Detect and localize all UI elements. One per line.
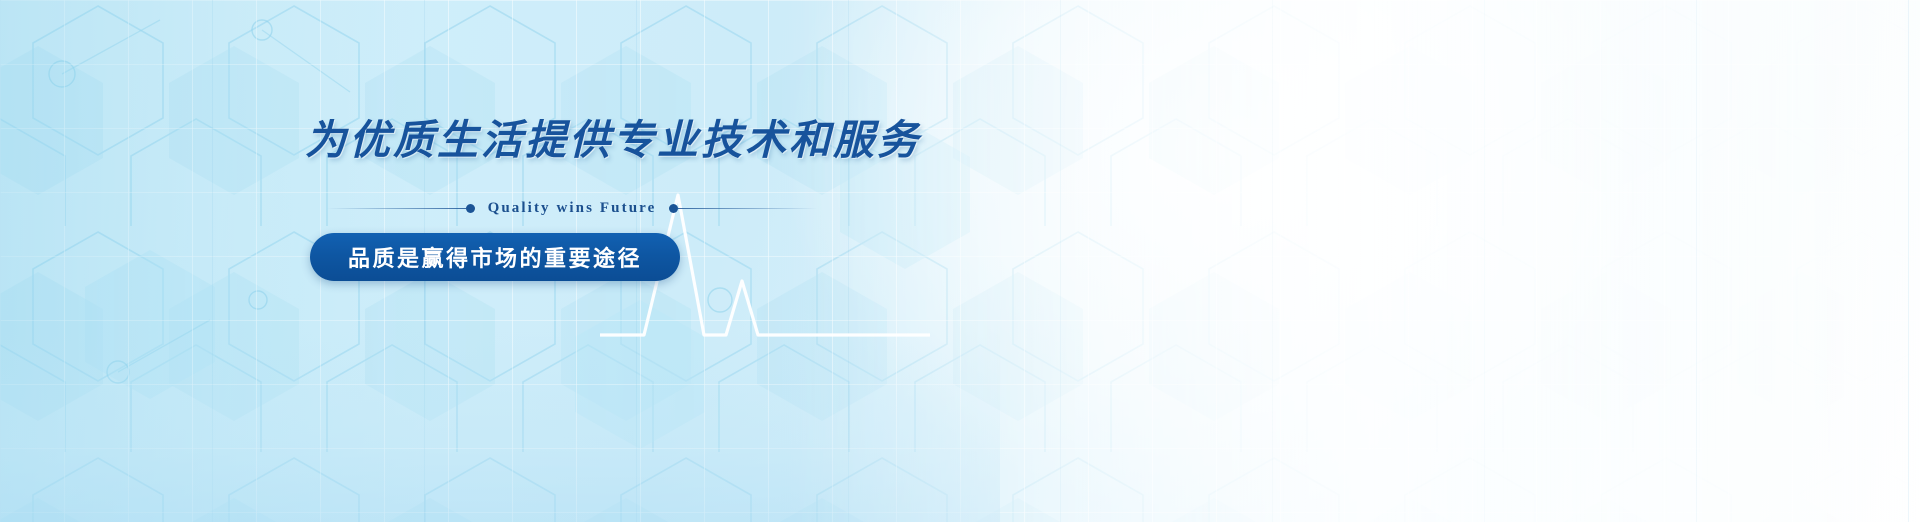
divider-dot-right bbox=[669, 204, 678, 213]
cta-button[interactable]: 品质是赢得市场的重要途径 bbox=[310, 233, 680, 281]
eyebrow-text: Quality wins Future bbox=[475, 200, 670, 217]
divider-line-left bbox=[327, 208, 466, 209]
divider-line-right bbox=[678, 208, 817, 209]
hero-banner: 为优质生活提供专业技术和服务 Quality wins Future 品质是赢得… bbox=[0, 0, 1920, 522]
bottom-glow-overlay bbox=[0, 330, 1000, 522]
divider-dot-left bbox=[466, 204, 475, 213]
eyebrow-divider: Quality wins Future bbox=[327, 200, 817, 217]
page-title: 为优质生活提供专业技术和服务 bbox=[305, 118, 1065, 164]
hero-copy: 为优质生活提供专业技术和服务 Quality wins Future 品质是赢得… bbox=[305, 118, 1065, 281]
cta-label: 品质是赢得市场的重要途径 bbox=[348, 241, 642, 273]
